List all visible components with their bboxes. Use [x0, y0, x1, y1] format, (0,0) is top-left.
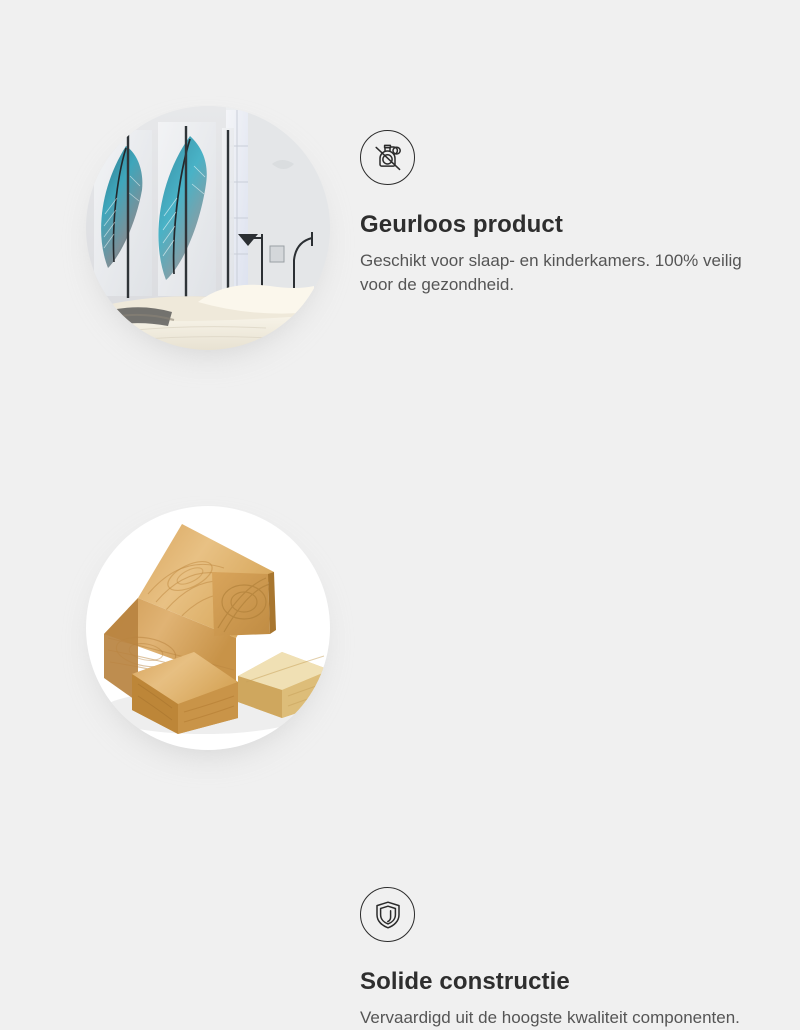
feature-block-odourless: Geurloos product Geschikt voor slaap- en…: [0, 0, 800, 400]
feature-page: Geurloos product Geschikt voor slaap- en…: [0, 0, 800, 800]
feature-text-odourless: Geurloos product Geschikt voor slaap- en…: [360, 130, 760, 297]
no-fragrance-perfume-bottle-icon: [360, 130, 415, 185]
feature-photo-bedroom: [86, 106, 330, 350]
feature-block-solid-construction: Solide constructie Vervaardigd uit de ho…: [0, 400, 800, 800]
feature-photo-wood: [86, 506, 330, 750]
photo-circle-mask: [86, 106, 330, 350]
stacked-wooden-beams-photo: [86, 506, 330, 750]
feature-description: Geschikt voor slaap- en kinderkamers. 10…: [360, 249, 752, 297]
feature-title: Solide constructie: [360, 968, 760, 997]
feature-text-solid-construction: Solide constructie Vervaardigd uit de ho…: [360, 887, 760, 1030]
feature-title: Geurloos product: [360, 211, 760, 240]
photo-circle-mask: [86, 506, 330, 750]
bedroom-with-feather-wall-art-photo: [86, 106, 330, 350]
shield-icon: [360, 887, 415, 942]
feature-description: Vervaardigd uit de hoogste kwaliteit com…: [360, 1006, 752, 1030]
